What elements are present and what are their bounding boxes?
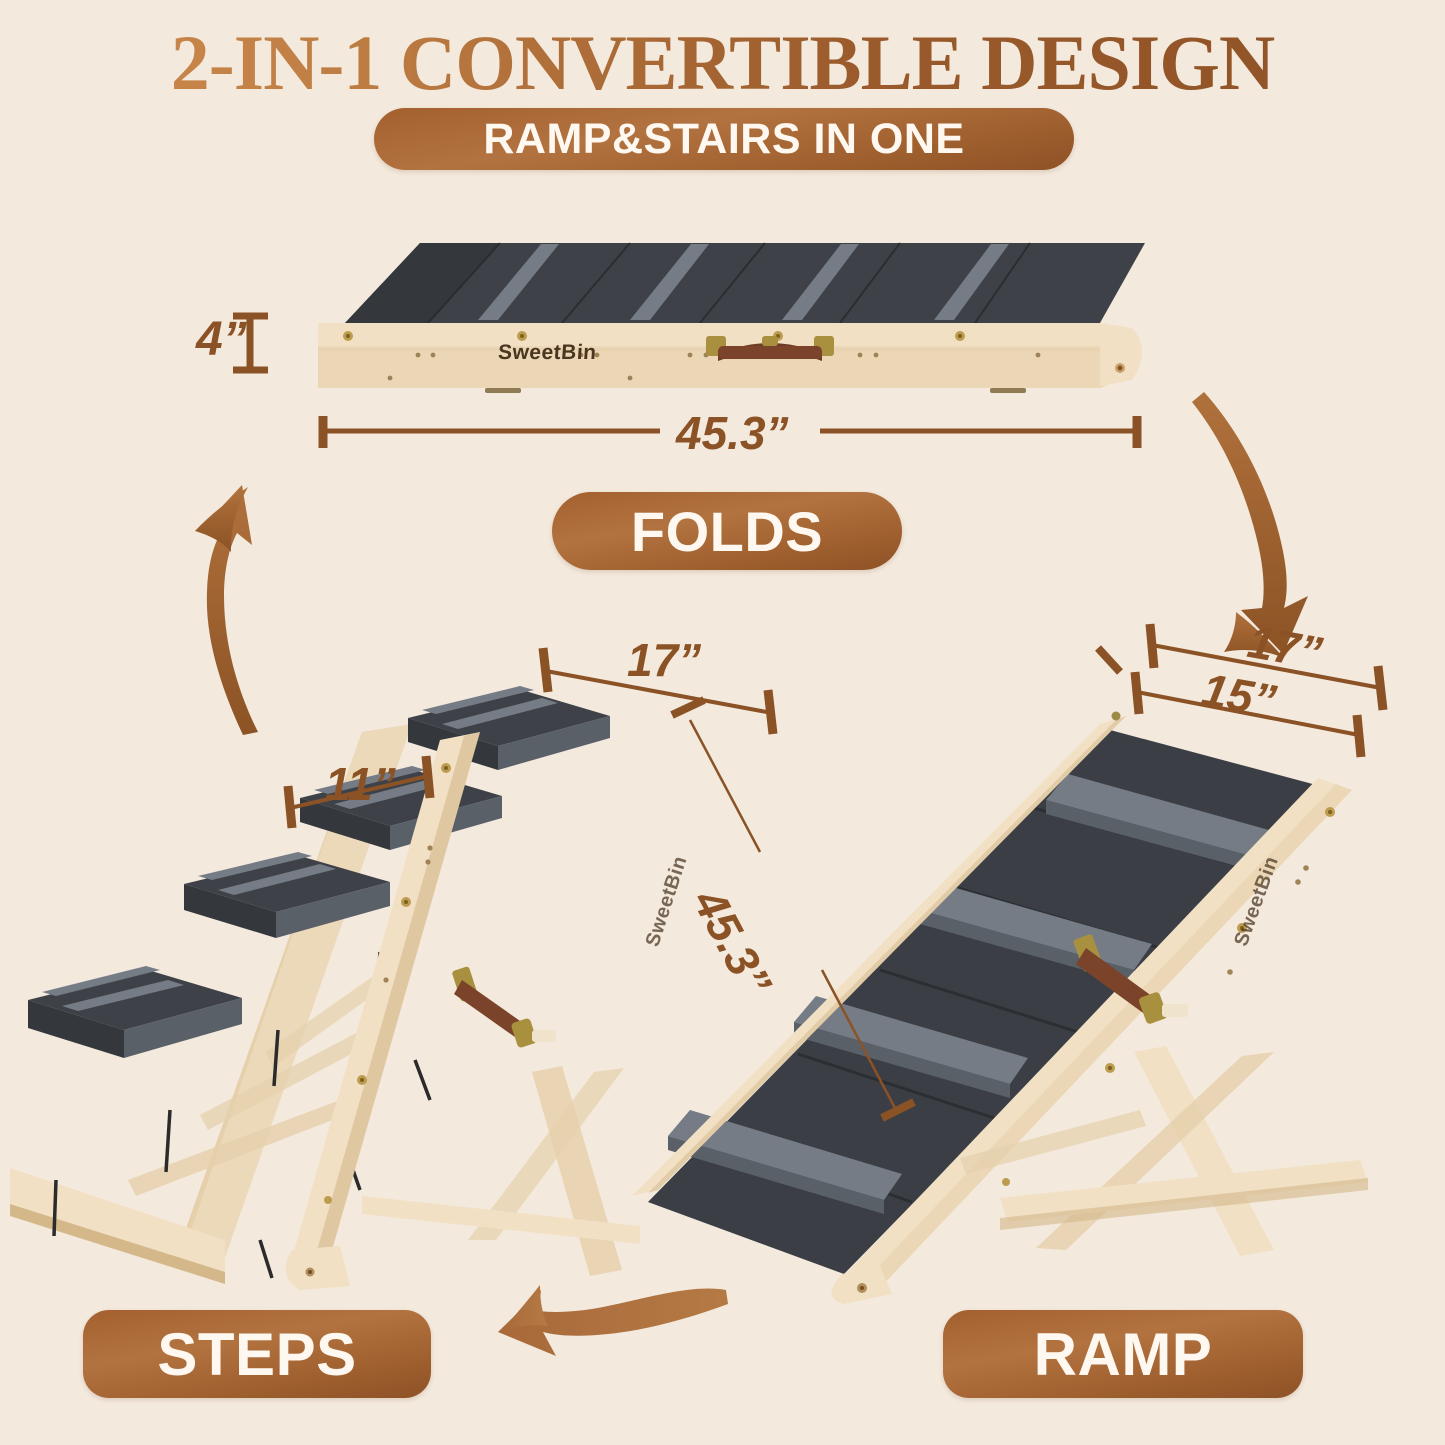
folded-product-image xyxy=(300,228,1160,408)
curved-arrow-up-left-head xyxy=(195,487,248,552)
curved-arrow-down-right-icon xyxy=(1192,392,1308,654)
folds-badge-label: FOLDS xyxy=(631,499,823,564)
ramp-badge-label: RAMP xyxy=(1034,1320,1213,1389)
folded-brand-label: SweetBin xyxy=(497,341,597,365)
step-tread xyxy=(28,966,242,1058)
page-title: 2-IN-1 CONVERTIBLE DESIGN xyxy=(0,18,1445,108)
dimension-label-steps-depth: 11” xyxy=(325,757,396,811)
dimension-label-steps-width: 17” xyxy=(627,633,701,687)
subtitle-badge: RAMP&STAIRS IN ONE xyxy=(374,108,1074,170)
subtitle-badge-label: RAMP&STAIRS IN ONE xyxy=(483,115,964,164)
ramp-badge: RAMP xyxy=(943,1310,1303,1398)
steps-badge: STEPS xyxy=(83,1310,431,1398)
dimension-label-height: 4” xyxy=(196,312,247,367)
steps-badge-label: STEPS xyxy=(157,1320,356,1389)
folds-badge: FOLDS xyxy=(552,492,902,570)
infographic-canvas: 2-IN-1 CONVERTIBLE DESIGN RAMP&STAIRS IN… xyxy=(0,0,1445,1445)
dimension-label-folded-length: 45.3” xyxy=(676,406,789,460)
